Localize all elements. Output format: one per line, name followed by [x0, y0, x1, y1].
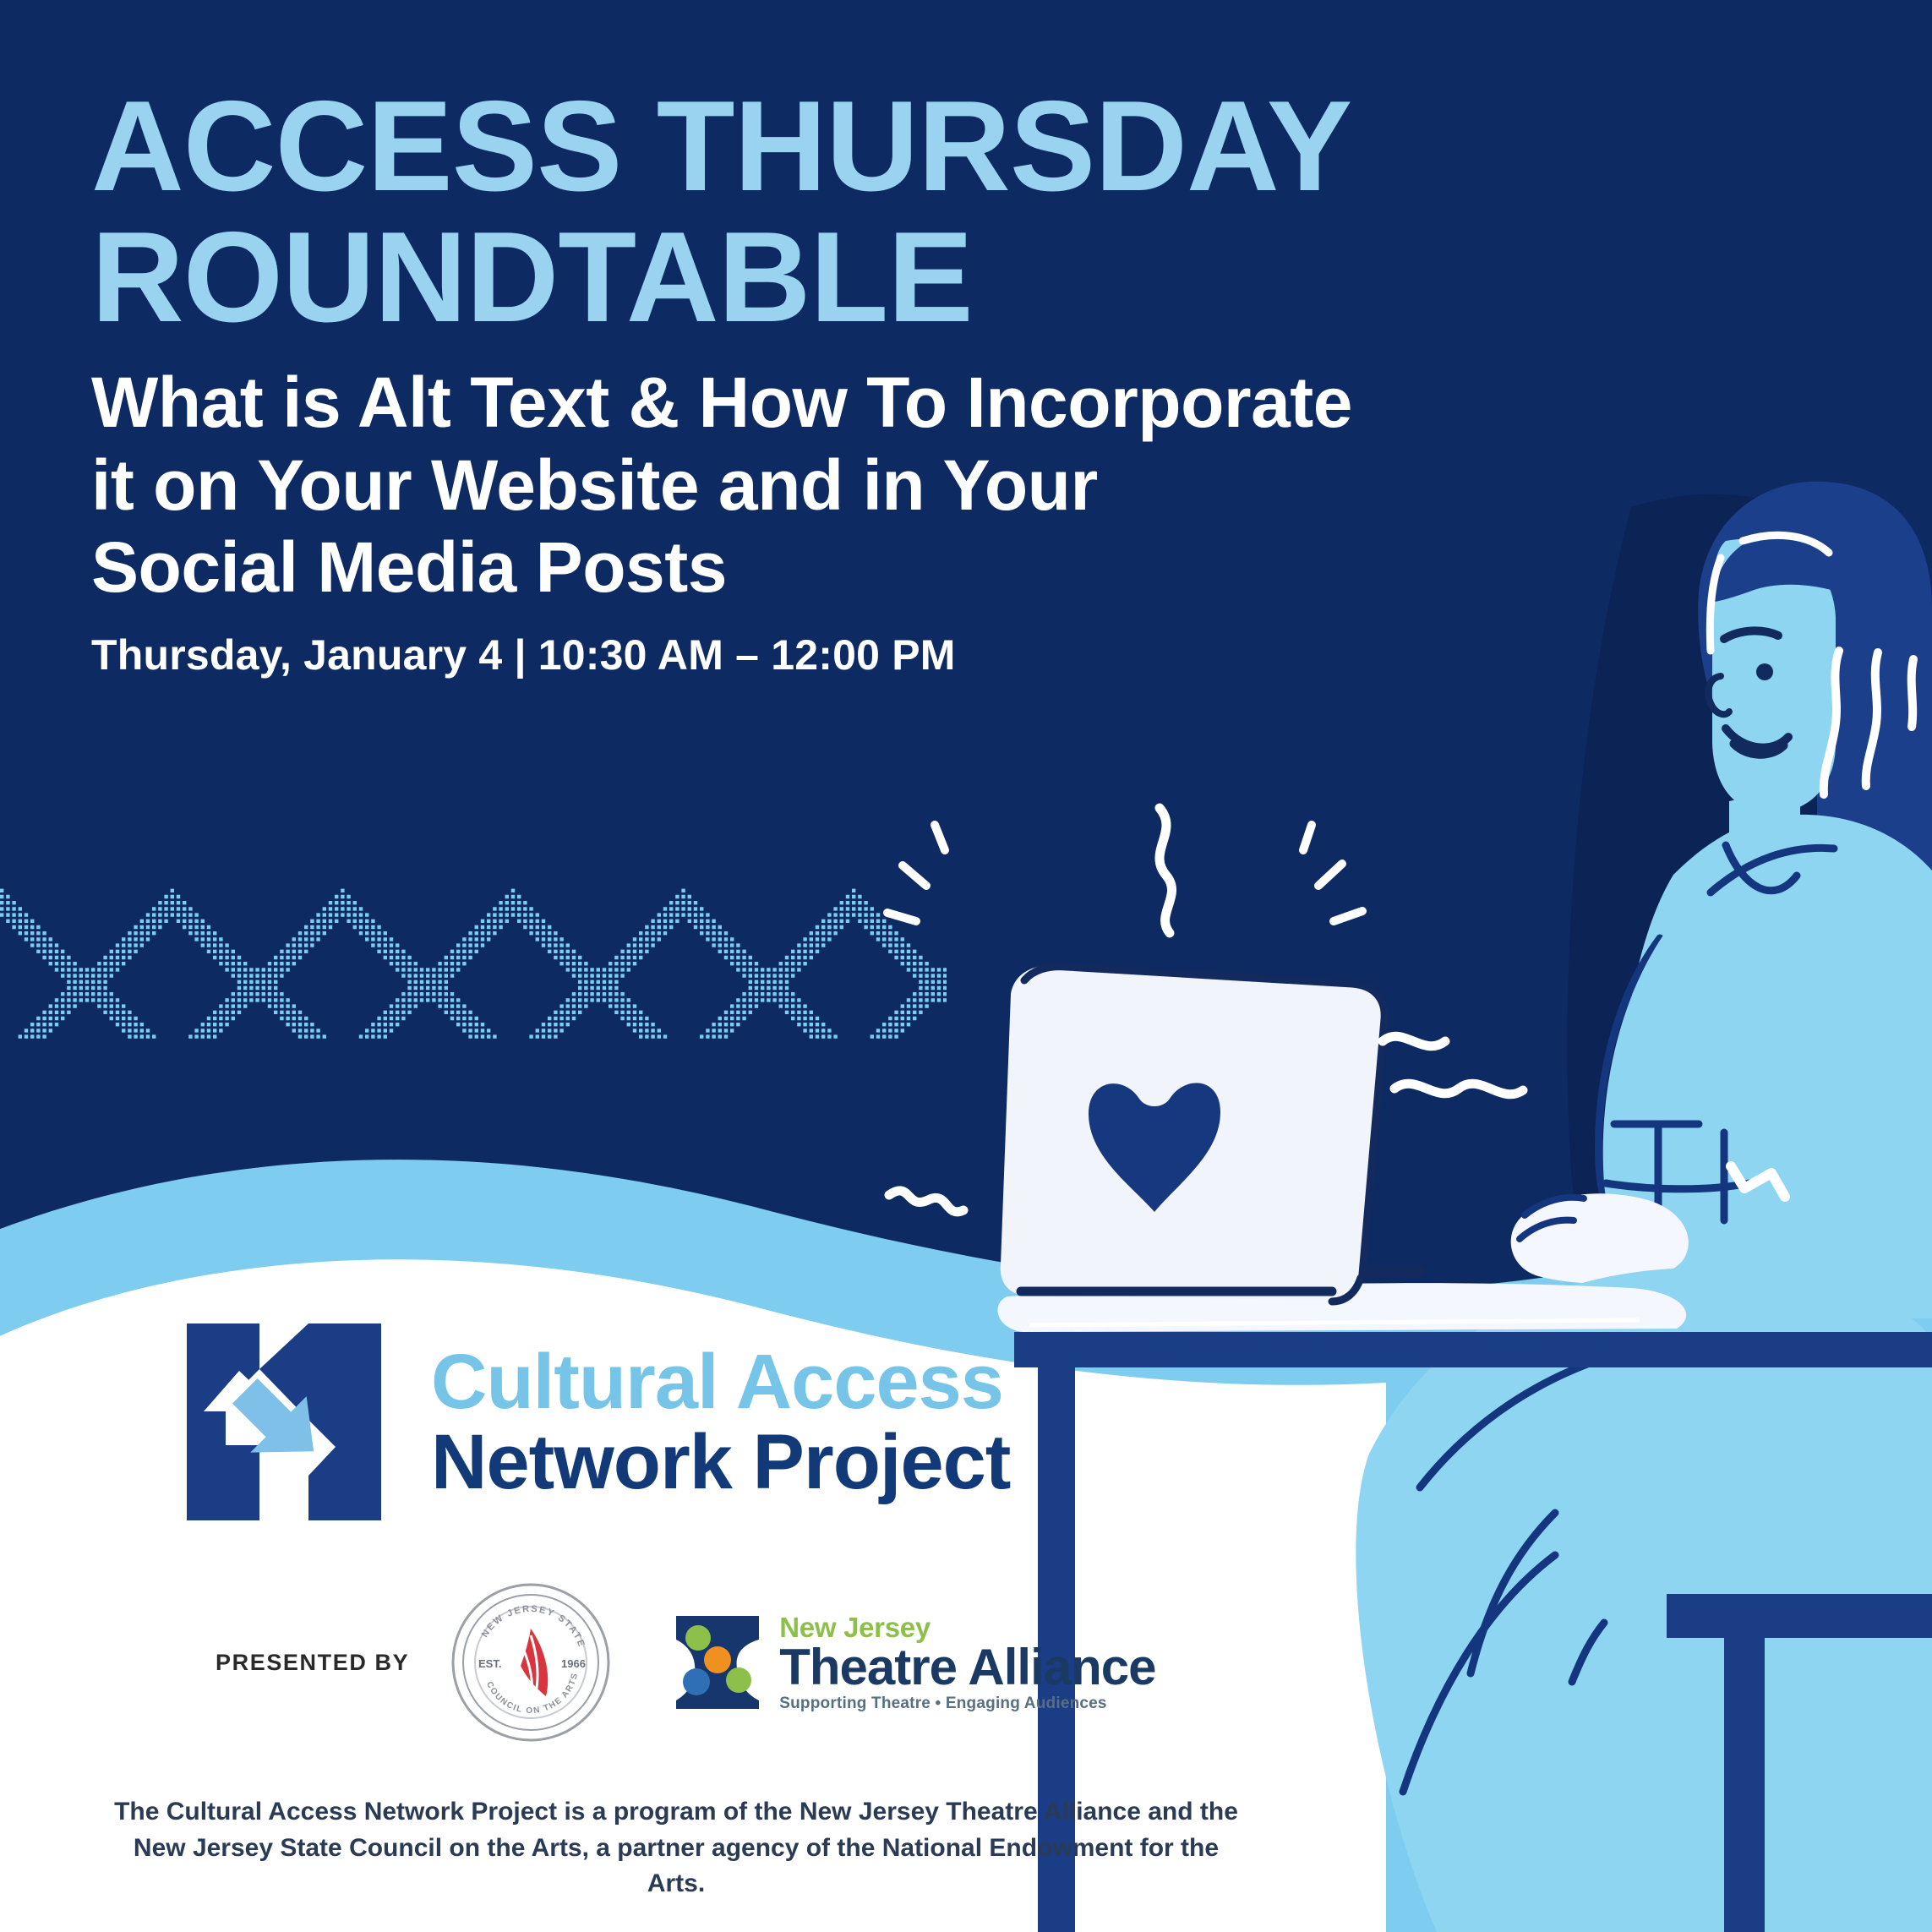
- seal-est-text: EST.: [478, 1657, 501, 1670]
- subtitle-line-3: Social Media Posts: [91, 527, 1511, 609]
- footer-block: Cultural Access Network Project PRESENTE…: [0, 1318, 1318, 1902]
- subtitle-line-2: it on Your Website and in Your: [91, 445, 1511, 527]
- njta-eyebrow: New Jersey: [779, 1613, 1155, 1641]
- event-datetime: Thursday, January 4 | 10:30 AM – 12:00 P…: [91, 630, 1511, 679]
- new-jersey-theatre-alliance-wordmark: New Jersey Theatre Alliance Supporting T…: [779, 1613, 1155, 1711]
- brand-line-two: Network Project: [431, 1424, 1010, 1500]
- new-jersey-theatre-alliance-lockup: New Jersey Theatre Alliance Supporting T…: [668, 1613, 1155, 1712]
- footnote-line-1: The Cultural Access Network Project is a…: [110, 1794, 1242, 1831]
- page-title: ACCESS THURSDAY ROUNDTABLE: [91, 81, 1511, 343]
- subtitle-line-1: What is Alt Text & How To Incorporate: [91, 362, 1511, 444]
- presented-by-row: PRESENTED BY EST. 1966 NEW JERSEY STATE …: [0, 1578, 1318, 1747]
- njta-title: Theatre Alliance: [779, 1641, 1155, 1693]
- poster-canvas: ACCESS THURSDAY ROUNDTABLE What is Alt T…: [0, 0, 1932, 1932]
- new-jersey-state-council-on-the-arts-seal-icon: EST. 1966 NEW JERSEY STATE COUNCIL ON TH…: [446, 1578, 615, 1747]
- presented-by-label: PRESENTED BY: [216, 1650, 409, 1676]
- page-subtitle: What is Alt Text & How To Incorporate it…: [91, 362, 1511, 609]
- new-jersey-theatre-alliance-logo-icon: [668, 1613, 767, 1712]
- brand-lockup: Cultural Access Network Project: [0, 1318, 1318, 1525]
- title-line-1: ACCESS THURSDAY: [91, 81, 1511, 212]
- wavy-accent: [1394, 1083, 1523, 1094]
- squiggle-left: [889, 1191, 963, 1212]
- brand-wordmark: Cultural Access Network Project: [431, 1344, 1010, 1499]
- chair-leg-right: [1724, 1631, 1765, 1932]
- steam-squiggle: [1160, 808, 1172, 933]
- chair-seat-bar: [1667, 1594, 1932, 1638]
- seal-year-text: 1966: [561, 1657, 586, 1670]
- dotted-chevron-pattern: [0, 870, 947, 1040]
- header-text-block: ACCESS THURSDAY ROUNDTABLE What is Alt T…: [91, 81, 1511, 679]
- title-line-2: ROUNDTABLE: [91, 212, 1511, 343]
- eye: [1756, 663, 1773, 680]
- sparkle-lines-right: [1303, 825, 1362, 921]
- njta-tagline: Supporting Theatre • Engaging Audiences: [779, 1695, 1155, 1711]
- footnote-text: The Cultural Access Network Project is a…: [0, 1794, 1242, 1902]
- wavy-accent-2: [1383, 1036, 1445, 1046]
- hair-strand-3: [1912, 659, 1913, 727]
- cultural-access-network-project-logo-icon: [182, 1318, 406, 1525]
- footnote-line-2: New Jersey State Council on the Arts, a …: [110, 1831, 1242, 1902]
- brand-line-one: Cultural Access: [431, 1344, 1010, 1420]
